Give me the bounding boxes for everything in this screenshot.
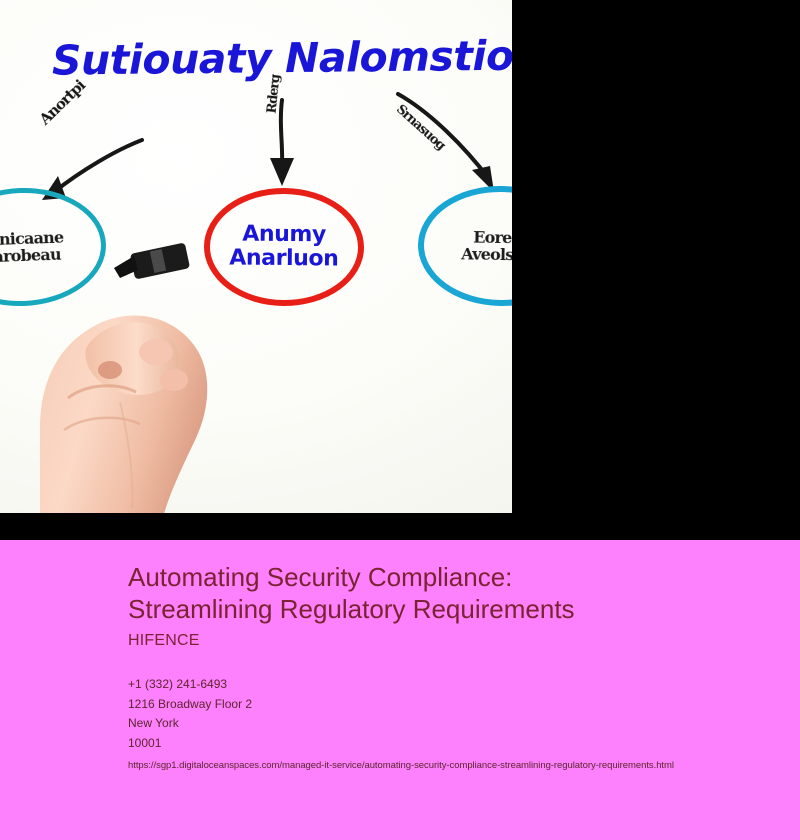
diagram-circle-center-line1: Anumy [242, 223, 326, 247]
contact-block: +1 (332) 241-6493 1216 Broadway Floor 2 … [128, 675, 788, 753]
marker-pen-icon [108, 240, 194, 286]
contact-address-line1: 1216 Broadway Floor 2 [128, 695, 788, 714]
contact-zip: 10001 [128, 734, 788, 753]
article-hero-image: Sutiouaty Nalomstion Anortpi Rderg Srnas… [0, 0, 512, 513]
page-root: Sutiouaty Nalomstion Anortpi Rderg Srnas… [0, 0, 800, 840]
contact-phone[interactable]: +1 (332) 241-6493 [128, 675, 788, 694]
diagram-circle-center-line2: Anarluon [229, 247, 338, 272]
contact-city: New York [128, 714, 788, 733]
diagram-circle-right-line2: Aveolsant [461, 245, 512, 264]
page-title: Automating Security Compliance: Streamli… [128, 562, 788, 625]
article-info-panel: Automating Security Compliance: Streamli… [0, 540, 800, 840]
source-url-link[interactable]: https://sgp1.digitaloceanspaces.com/mana… [128, 760, 788, 771]
arrow-right-icon [390, 88, 510, 196]
brand-name: HIFENCE [128, 632, 788, 650]
